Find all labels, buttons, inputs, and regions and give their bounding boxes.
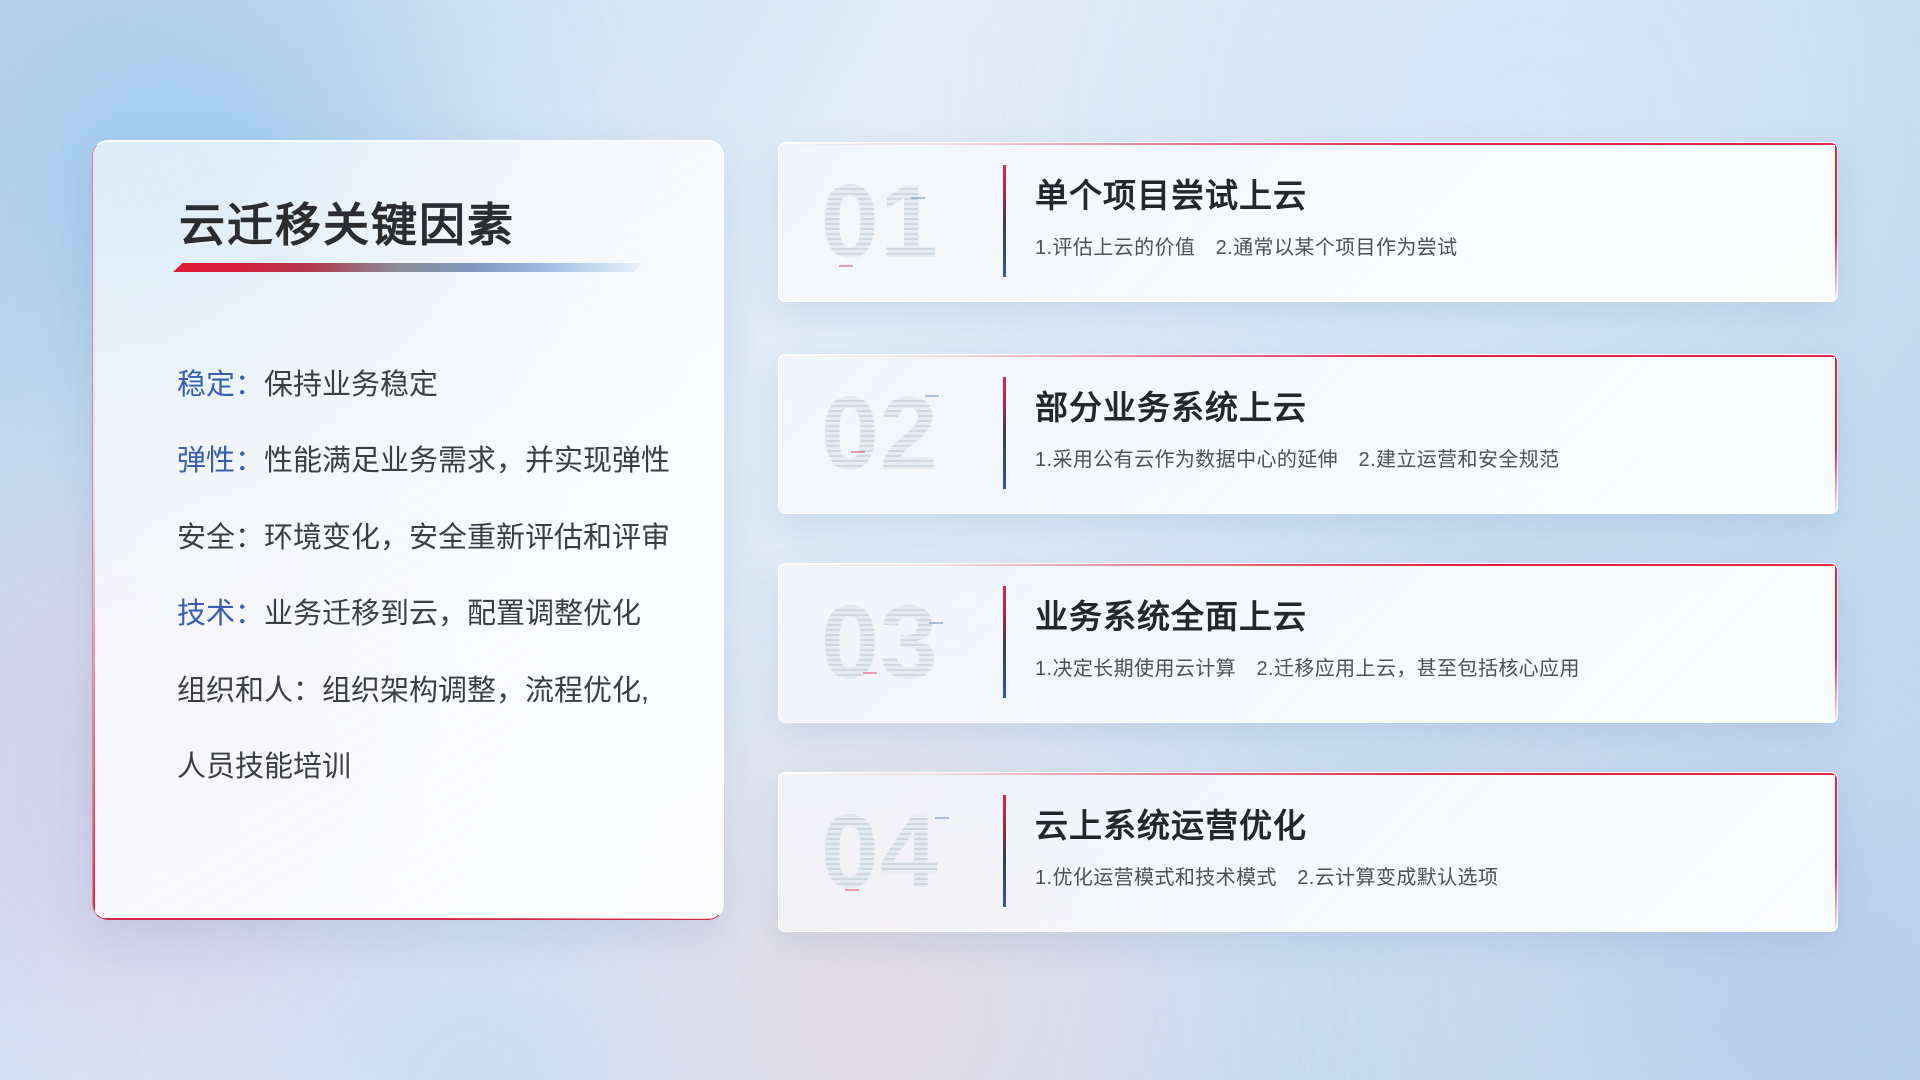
title-underline-gradient: [173, 263, 643, 272]
step-number: 04: [821, 793, 991, 911]
stage-card-03[interactable]: 03 03 业务系统全面上云 1.决定长期使用云计算 2.迁移应用上云，甚至包括…: [778, 563, 1838, 723]
factor-label: 稳定：: [177, 369, 264, 401]
step-number: 03: [821, 584, 991, 702]
factor-text: 组织架构调整，流程优化,: [322, 675, 649, 707]
card-right-accent: [1835, 564, 1837, 722]
card-divider-bar: [1003, 795, 1006, 907]
list-item: 弹性：性能满足业务需求，并实现弹性: [177, 445, 683, 477]
card-description: 1.评估上云的价值 2.通常以某个项目作为尝试: [1035, 231, 1458, 260]
card-title: 云上系统运营优化: [1035, 799, 1307, 847]
card-description: 1.采用公有云作为数据中心的延伸 2.建立运营和安全规范: [1035, 443, 1560, 472]
number-speck: [925, 395, 939, 397]
card-divider-bar: [1003, 165, 1006, 277]
slide-stage: 云迁移关键因素 稳定：保持业务稳定 弹性：性能满足业务需求，并实现弹性 安全：环…: [0, 0, 1920, 1080]
factor-label: 安全：: [177, 522, 264, 554]
panel-bottom-accent: [93, 918, 723, 920]
factor-text: 人员技能培训: [177, 751, 351, 783]
card-title: 单个项目尝试上云: [1035, 169, 1307, 217]
number-speck: [929, 622, 943, 624]
card-title: 部分业务系统上云: [1035, 381, 1307, 429]
card-right-accent: [1835, 355, 1837, 513]
panel-left-accent: [93, 141, 95, 919]
factor-text: 业务迁移到云，配置调整优化: [264, 598, 641, 630]
card-top-accent: [779, 564, 1837, 566]
card-title: 业务系统全面上云: [1035, 590, 1307, 638]
factor-text: 性能满足业务需求，并实现弹性: [264, 445, 670, 477]
number-speck: [851, 451, 865, 453]
list-item: 组织和人：组织架构调整，流程优化,: [177, 675, 683, 707]
number-speck: [863, 672, 877, 674]
factor-label: 组织和人：: [177, 675, 322, 707]
list-item: 技术：业务迁移到云，配置调整优化: [177, 598, 683, 630]
card-divider-bar: [1003, 377, 1006, 489]
number-speck: [935, 817, 949, 819]
list-item: 人员技能培训: [177, 751, 683, 783]
list-item: 安全：环境变化，安全重新评估和评审: [177, 522, 683, 554]
key-factors-panel: 云迁移关键因素 稳定：保持业务稳定 弹性：性能满足业务需求，并实现弹性 安全：环…: [92, 140, 724, 920]
card-top-accent: [779, 355, 1837, 357]
list-item: 稳定：保持业务稳定: [177, 369, 683, 401]
card-description: 1.决定长期使用云计算 2.迁移应用上云，甚至包括核心应用: [1035, 652, 1580, 681]
step-number: 01: [821, 163, 991, 281]
factor-label: 弹性：: [177, 445, 264, 477]
card-top-accent: [779, 143, 1837, 145]
step-number: 02: [821, 375, 991, 493]
page-title: 云迁移关键因素: [179, 189, 515, 255]
card-right-accent: [1835, 773, 1837, 931]
number-speck: [845, 889, 859, 891]
stage-card-01[interactable]: 01 01 单个项目尝试上云 1.评估上云的价值 2.通常以某个项目作为尝试: [778, 142, 1838, 302]
card-divider-bar: [1003, 586, 1006, 698]
stage-card-02[interactable]: 02 02 部分业务系统上云 1.采用公有云作为数据中心的延伸 2.建立运营和安…: [778, 354, 1838, 514]
number-speck: [839, 265, 853, 267]
factor-text: 环境变化，安全重新评估和评审: [264, 522, 670, 554]
factor-text: 保持业务稳定: [264, 369, 438, 401]
card-top-accent: [779, 773, 1837, 775]
stage-card-04[interactable]: 04 04 云上系统运营优化 1.优化运营模式和技术模式 2.云计算变成默认选项: [778, 772, 1838, 932]
card-right-accent: [1835, 143, 1837, 301]
number-speck: [911, 197, 925, 199]
card-description: 1.优化运营模式和技术模式 2.云计算变成默认选项: [1035, 861, 1498, 890]
factor-label: 技术：: [177, 598, 264, 630]
factor-list: 稳定：保持业务稳定 弹性：性能满足业务需求，并实现弹性 安全：环境变化，安全重新…: [177, 369, 683, 784]
